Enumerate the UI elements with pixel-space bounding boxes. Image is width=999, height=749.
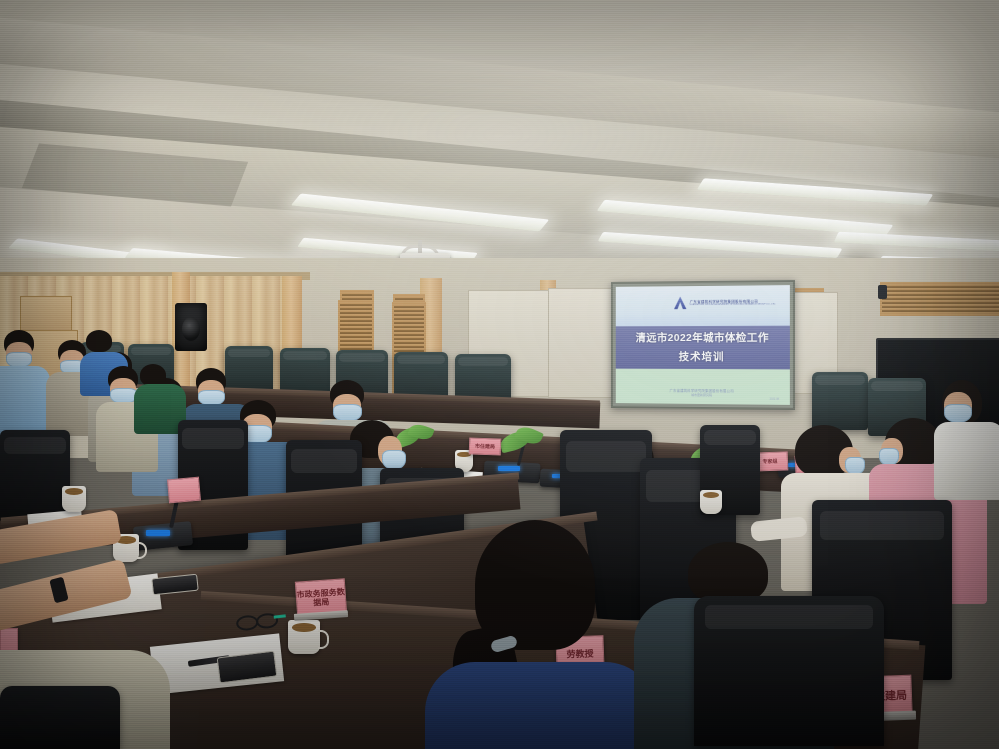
hair	[140, 364, 166, 386]
slide-date: 2022.08	[770, 398, 780, 401]
speaker-cone	[182, 317, 200, 341]
wall-speaker	[175, 303, 207, 351]
tea-cup	[62, 486, 86, 512]
slide-logo-subtext: GUANGDONG PROVINCIAL ACADEMY OF BUILDING…	[690, 304, 776, 307]
name-placard-text: 市住建局	[475, 443, 495, 451]
presentation-slide: 广东省建筑科学研究院集团股份有限公司 GUANGDONG PROVINCIAL …	[616, 285, 790, 405]
name-placard: 市住建局	[469, 437, 502, 455]
microphone-led	[146, 530, 170, 536]
torso	[934, 422, 999, 500]
slide-footer-line-2: 城市更新研究院	[616, 392, 790, 398]
slide-title-band: 清远市2022年城市体检工作 技术培训	[616, 326, 790, 369]
slide-title-line-2: 技术培训	[679, 349, 725, 364]
microphone-led	[498, 466, 520, 471]
chair	[812, 372, 868, 430]
wood-slat-panel	[880, 282, 999, 316]
slide-logo: 广东省建筑科学研究院集团股份有限公司 GUANGDONG PROVINCIAL …	[674, 296, 776, 310]
chair	[0, 686, 120, 749]
company-logo-icon	[674, 297, 687, 310]
tea-cup	[288, 620, 320, 654]
slide-header-band: 广东省建筑科学研究院集团股份有限公司 GUANGDONG PROVINCIAL …	[616, 285, 790, 326]
hair	[86, 330, 112, 352]
name-placard-text: 劳教授	[566, 646, 593, 660]
name-placard-text: 市政务服务数据局	[296, 587, 345, 609]
conference-room-photo: 广东省建筑科学研究院集团股份有限公司 GUANGDONG PROVINCIAL …	[0, 0, 999, 749]
face-mask	[382, 450, 406, 470]
cup-handle	[137, 542, 147, 559]
projection-screen: 广东省建筑科学研究院集团股份有限公司 GUANGDONG PROVINCIAL …	[611, 280, 795, 410]
chair	[694, 596, 884, 746]
torso	[425, 662, 655, 749]
torso	[0, 366, 50, 438]
wall-panel	[548, 288, 612, 398]
name-placard-text: 专家组	[762, 458, 777, 466]
tea-cup	[700, 490, 722, 514]
slide-title-line-1: 清远市2022年城市体检工作	[636, 330, 769, 345]
face-mask	[944, 404, 972, 423]
hair	[688, 542, 768, 604]
name-placard	[167, 477, 201, 504]
slide-footer: 广东省建筑科学研究院集团股份有限公司 城市更新研究院	[616, 387, 790, 397]
ceiling-camera	[878, 285, 887, 299]
